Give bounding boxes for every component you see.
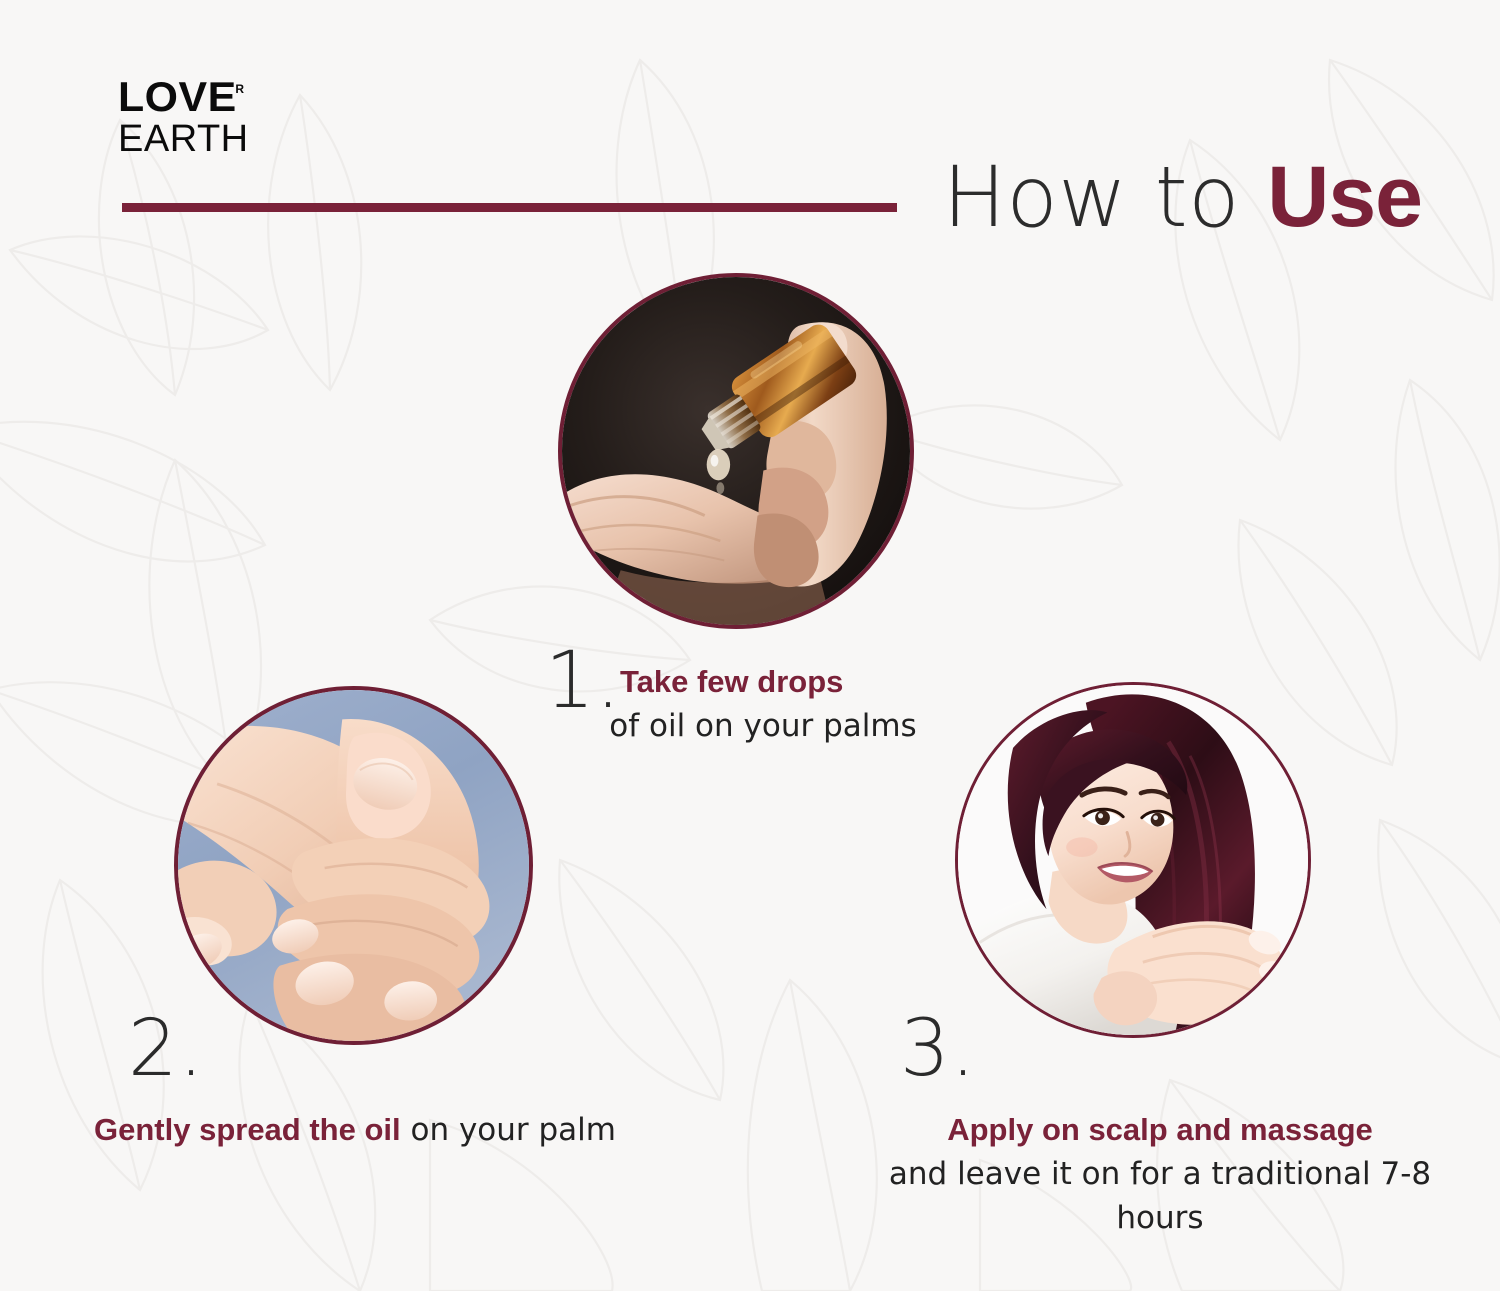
page-title: How to Use — [943, 152, 1422, 242]
step-1-caption: Take few drops of oil on your palms — [560, 660, 960, 748]
step-3-bold-text: Apply on scalp and massage — [947, 1112, 1373, 1147]
step-3-caption: Apply on scalp and massageand leave it o… — [870, 1108, 1450, 1240]
step-3-number: 3. — [900, 1010, 976, 1088]
brand-logo: LOVER EARTH — [118, 76, 249, 158]
page-title-bold: Use — [1267, 149, 1422, 245]
step-3-image — [955, 682, 1311, 1038]
step-2-rest-text: on your palm — [401, 1112, 616, 1148]
registered-trademark-icon: R — [235, 82, 244, 96]
step-2-caption: Gently spread the oil on your palm — [70, 1108, 640, 1152]
heading-rule-divider — [122, 203, 897, 212]
brand-name-love: LOVE — [118, 76, 237, 118]
step-1-rest-text: of oil on your palms — [560, 704, 960, 748]
step-1-image — [558, 273, 914, 629]
step-2-image — [174, 686, 533, 1045]
page-title-light: How to — [943, 148, 1268, 246]
brand-name-earth: EARTH — [118, 120, 249, 158]
step-2-number: 2. — [128, 1010, 204, 1088]
step-2-bold-text: Gently spread the oil — [94, 1112, 401, 1147]
step-3-rest-text: and leave it on for a traditional 7-8 ho… — [889, 1156, 1431, 1236]
how-to-use-infographic: LOVER EARTH How to Use — [0, 0, 1500, 1291]
step-1-bold-text: Take few drops — [620, 664, 843, 699]
